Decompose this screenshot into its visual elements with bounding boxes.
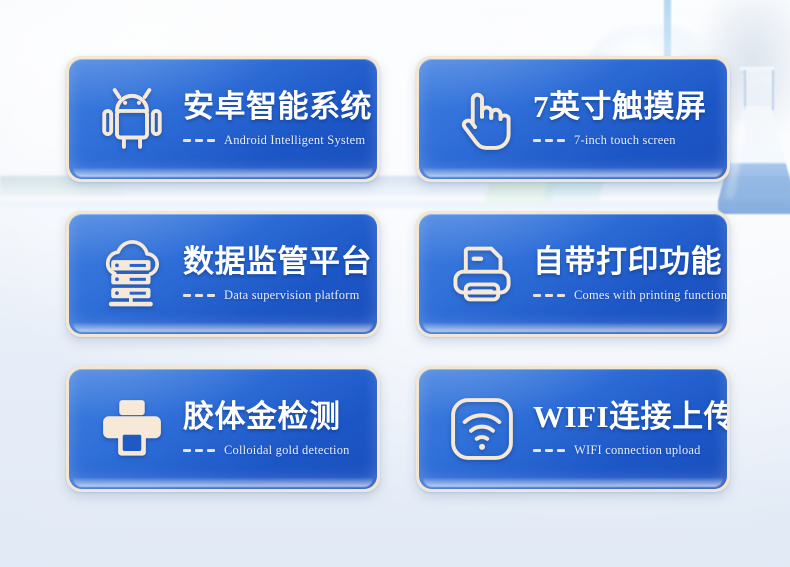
feature-card-printing[interactable]: 自带打印功能 Comes with printing function (416, 211, 730, 337)
feature-card-data-platform[interactable]: 数据监管平台 Data supervision platform (66, 211, 380, 337)
dash-separator-icon (533, 449, 565, 452)
feature-card-touch-screen[interactable]: 7英寸触摸屏 7-inch touch screen (416, 56, 730, 182)
feature-text-block: 安卓智能系统 Android Intelligent System (183, 90, 377, 147)
feature-subtitle: WIFI connection upload (574, 443, 701, 458)
feature-subtitle: 7-inch touch screen (574, 133, 676, 148)
cloud-server-icon (95, 237, 169, 311)
feature-text-block: 自带打印功能 Comes with printing function (533, 245, 727, 302)
feature-title: 胶体金检测 (183, 400, 350, 433)
feature-card-wifi[interactable]: WIFI连接上传 WIFI connection upload (416, 366, 730, 492)
printer-solid-icon (95, 392, 169, 466)
feature-text-block: 胶体金检测 Colloidal gold detection (183, 400, 360, 457)
feature-title: 7英寸触摸屏 (533, 90, 707, 123)
dash-separator-icon (183, 294, 215, 297)
feature-subtitle: Data supervision platform (224, 288, 360, 303)
feature-subtitle: Colloidal gold detection (224, 443, 350, 458)
feature-title: 安卓智能系统 (183, 90, 372, 123)
dash-separator-icon (533, 294, 565, 297)
feature-card-grid: 安卓智能系统 Android Intelligent System (0, 0, 790, 567)
feature-highlight-banner: 安卓智能系统 Android Intelligent System (0, 0, 790, 567)
feature-text-block: WIFI连接上传 WIFI connection upload (533, 400, 727, 457)
dash-separator-icon (183, 449, 215, 452)
feature-card-android[interactable]: 安卓智能系统 Android Intelligent System (66, 56, 380, 182)
dash-separator-icon (533, 139, 565, 142)
feature-title: 自带打印功能 (533, 245, 727, 278)
android-robot-icon (95, 82, 169, 156)
feature-card-colloidal-gold[interactable]: 胶体金检测 Colloidal gold detection (66, 366, 380, 492)
feature-text-block: 数据监管平台 Data supervision platform (183, 245, 377, 302)
feature-title: WIFI连接上传 (533, 400, 727, 433)
wifi-signal-icon (445, 392, 519, 466)
feature-text-block: 7英寸触摸屏 7-inch touch screen (533, 90, 717, 147)
dash-separator-icon (183, 139, 215, 142)
feature-subtitle: Android Intelligent System (224, 133, 365, 148)
printer-outline-icon (445, 237, 519, 311)
feature-title: 数据监管平台 (183, 245, 372, 278)
feature-subtitle: Comes with printing function (574, 288, 727, 303)
hand-tap-icon (445, 82, 519, 156)
